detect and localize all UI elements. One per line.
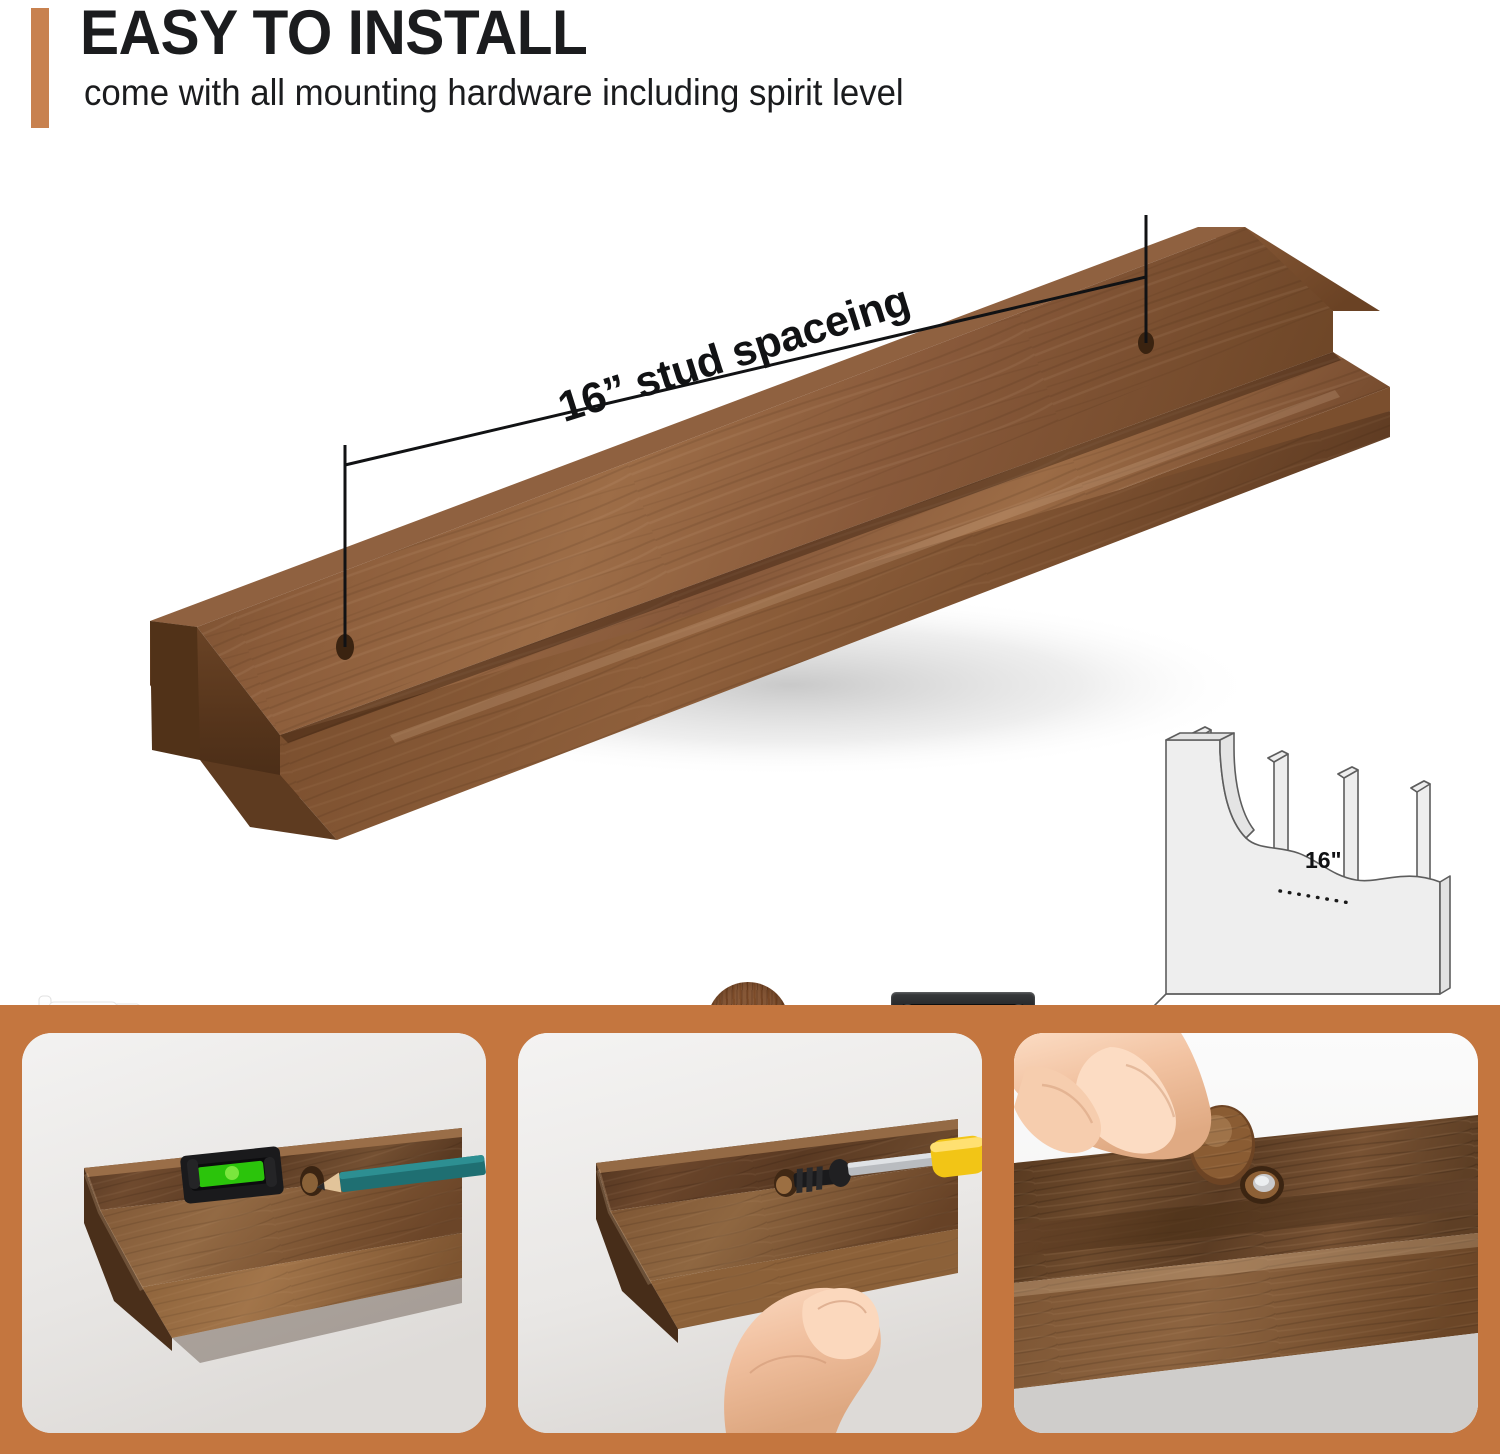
install-step-photo-3 [1014, 1033, 1478, 1433]
measurement-label: 16" [1305, 847, 1342, 873]
page-subtitle: come with all mounting hardware includin… [84, 72, 904, 114]
wall-stud-illustration: 16" [1128, 718, 1488, 1018]
install-steps-strip [0, 1005, 1500, 1454]
accent-bar [31, 8, 49, 128]
page-title: EASY TO INSTALL [80, 2, 587, 65]
wall-slab-face [1166, 740, 1440, 994]
hand [1014, 1033, 1211, 1159]
wall-stud-diagram: 16" [1128, 718, 1488, 1018]
install-step-photo-2 [518, 1033, 982, 1433]
header: EASY TO INSTALL come with all mounting h… [0, 0, 1500, 140]
shelf-left-edge [150, 621, 200, 760]
hero-section: 16” stud spaceing [0, 140, 1500, 985]
recessed-screw [1240, 1166, 1284, 1204]
install-step-photo-1 [22, 1033, 486, 1433]
wall-slab-edge [1440, 876, 1450, 994]
